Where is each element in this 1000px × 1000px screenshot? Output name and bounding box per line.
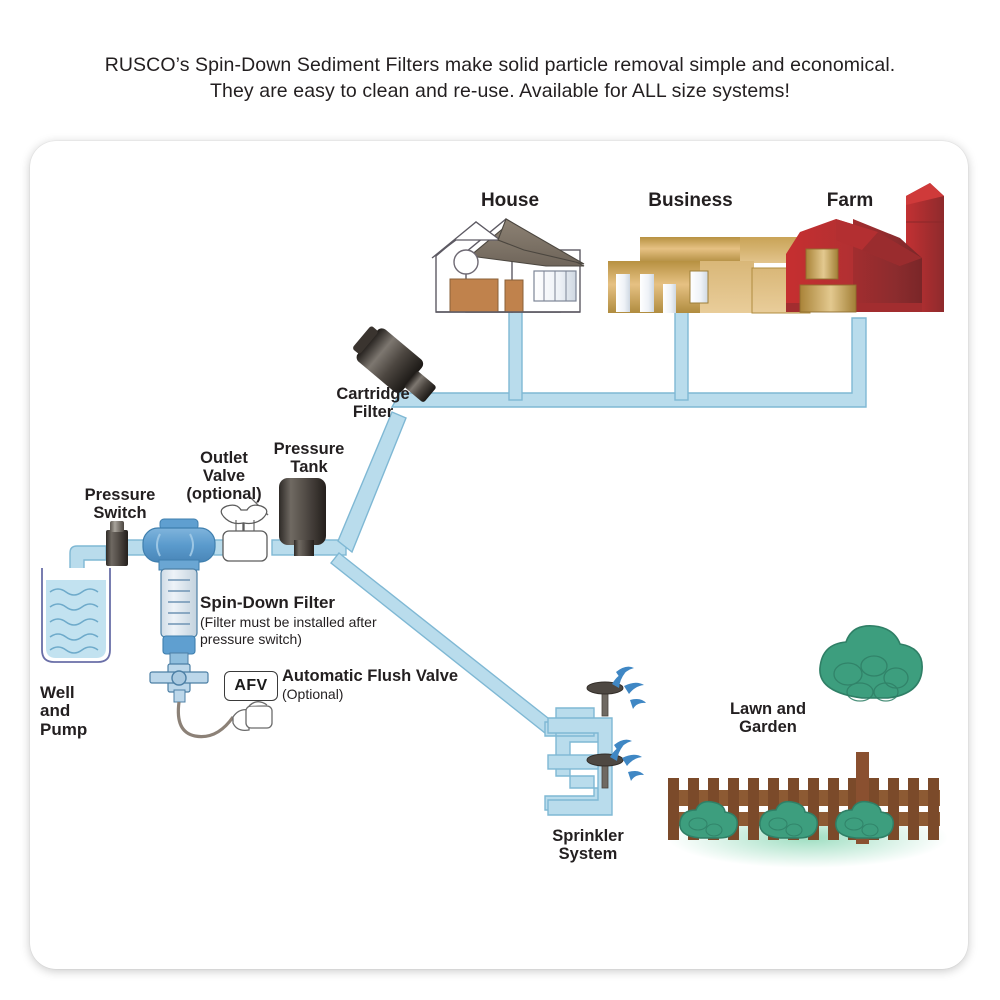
spin-down-filter-note: (Filter must be installed after pressure… bbox=[200, 614, 430, 648]
label-pressure-tank-line1: Pressure bbox=[255, 441, 363, 459]
tree-canopy bbox=[820, 626, 922, 701]
label-automatic-flush-valve: Automatic Flush Valve (Optional) bbox=[282, 668, 532, 702]
label-sprinkler-system-line1: Sprinkler bbox=[528, 828, 648, 846]
outlet-valve-icon bbox=[221, 496, 268, 561]
label-well-and-pump: Well and Pump bbox=[40, 684, 130, 739]
label-spin-down-filter-title: Spin-Down Filter bbox=[200, 594, 430, 612]
label-sprinkler-system: Sprinkler System bbox=[528, 828, 648, 864]
label-pressure-tank-line2: Tank bbox=[255, 459, 363, 477]
label-lawn-and-garden-line1: Lawn and bbox=[706, 701, 830, 719]
spin-down-filter-note-line1: (Filter must be installed after bbox=[200, 614, 430, 631]
label-spin-down-filter: Spin-Down Filter (Filter must be install… bbox=[200, 594, 430, 648]
spin-down-filter-note-line2: pressure switch) bbox=[200, 631, 430, 648]
business-building-icon bbox=[608, 237, 810, 313]
bushes bbox=[680, 802, 893, 838]
label-cartridge-filter-line2: Filter bbox=[318, 404, 428, 422]
label-well-line3: Pump bbox=[40, 721, 130, 739]
house-icon bbox=[432, 219, 584, 312]
automatic-flush-valve-note: (Optional) bbox=[282, 687, 532, 702]
label-lawn-and-garden: Lawn and Garden bbox=[706, 701, 830, 737]
pipe-building-header bbox=[392, 318, 866, 407]
label-well-line1: Well bbox=[40, 684, 130, 702]
label-pressure-tank: Pressure Tank bbox=[255, 441, 363, 477]
afv-badge: AFV bbox=[224, 671, 278, 701]
label-well-line2: and bbox=[40, 702, 130, 720]
pipe-riser-business bbox=[675, 310, 688, 400]
label-automatic-flush-valve-title: Automatic Flush Valve bbox=[282, 668, 532, 686]
label-farm: Farm bbox=[795, 191, 905, 212]
pipe-riser-house bbox=[509, 310, 522, 400]
label-lawn-and-garden-line2: Garden bbox=[706, 719, 830, 737]
label-house: House bbox=[440, 191, 580, 212]
label-pressure-switch-line2: Switch bbox=[62, 505, 178, 523]
label-pressure-switch: Pressure Switch bbox=[62, 487, 178, 523]
diagram-root: RUSCO’s Spin-Down Sediment Filters make … bbox=[0, 0, 1000, 1000]
label-cartridge-filter-line1: Cartridge bbox=[318, 386, 428, 404]
label-cartridge-filter: Cartridge Filter bbox=[318, 386, 428, 422]
label-pressure-switch-line1: Pressure bbox=[62, 487, 178, 505]
label-sprinkler-system-line2: System bbox=[528, 846, 648, 864]
well-water-icon bbox=[42, 568, 110, 662]
pressure-switch-icon bbox=[106, 521, 128, 566]
pipe-branch-upper bbox=[338, 412, 406, 552]
tree-fence-icon bbox=[668, 626, 948, 868]
label-business: Business bbox=[613, 191, 768, 212]
